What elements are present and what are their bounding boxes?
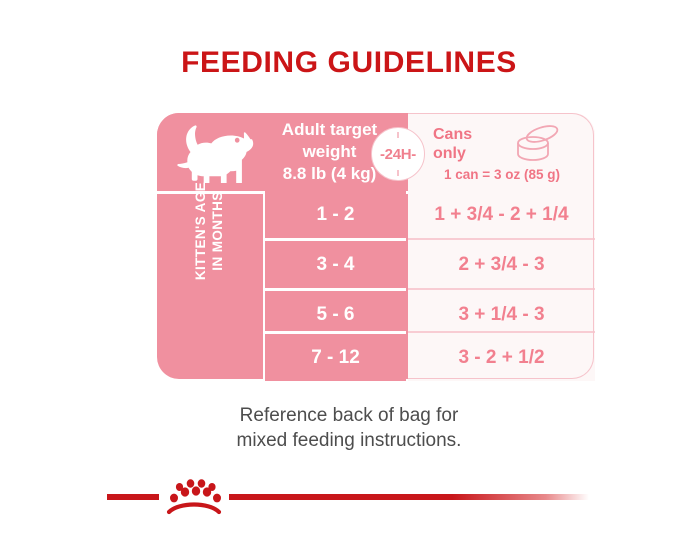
row-amount-cell: 3 - 2 + 1/2 [408,334,595,381]
table-row: 3 - 4 2 + 3/4 - 3 [157,241,595,288]
row-separator [408,288,595,290]
royal-canin-crown-icon [161,476,227,516]
cans-line-2: only [433,144,493,163]
row-separator [408,331,595,333]
brand-rule-right [229,494,589,500]
row-separator [408,238,595,240]
badge-tick-bottom [397,170,399,176]
table-rows: 1 - 2 1 + 3/4 - 2 + 1/4 3 - 4 2 + 3/4 - … [157,191,595,379]
can-weight-note: 1 can = 3 oz (85 g) [412,167,592,182]
table-row: 7 - 12 3 - 2 + 1/2 [157,334,595,381]
row-age-cell: 1 - 2 [265,191,406,238]
row-amount-cell: 2 + 3/4 - 3 [408,241,595,288]
row-age-cell: 3 - 4 [265,241,406,288]
feeding-guidelines-table: Adult target weight 8.8 lb (4 kg) -24H- … [157,113,595,379]
cans-line-1: Cans [433,125,493,144]
row-amount-cell: 1 + 3/4 - 2 + 1/4 [408,191,595,238]
24h-badge: -24H- [371,127,425,181]
badge-tick-top [397,132,399,138]
table-row: 1 - 2 1 + 3/4 - 2 + 1/4 [157,191,595,238]
cans-only-label: Cans only [433,125,493,163]
page-title: FEEDING GUIDELINES [0,46,698,80]
brand-footer [0,476,698,516]
badge-24h-label: -24H- [380,146,416,163]
row-age-cell: 7 - 12 [265,334,406,381]
brand-rule-left [107,494,159,500]
reference-note: Reference back of bag for mixed feeding … [0,403,698,453]
note-line-1: Reference back of bag for [0,403,698,428]
open-can-icon [507,123,567,167]
note-line-2: mixed feeding instructions. [0,428,698,453]
